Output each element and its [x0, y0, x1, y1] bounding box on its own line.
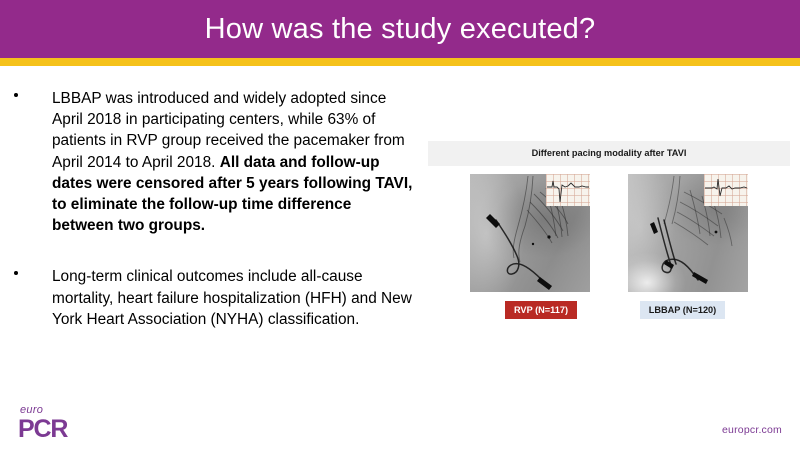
slide-canvas: How was the study executed? LBBAP was in…	[0, 0, 800, 450]
ecg-inset-lbbap	[704, 174, 748, 206]
ecg-trace-rvp	[546, 174, 590, 206]
list-item: LBBAP was introduced and widely adopted …	[0, 88, 424, 236]
list-item: Long-term clinical outcomes include all-…	[0, 266, 424, 330]
europcr-logo: euro PCR	[18, 404, 90, 444]
page-title: How was the study executed?	[0, 0, 800, 58]
bullet-dot-icon	[14, 93, 18, 97]
header-accent-stripe	[0, 58, 800, 66]
bullet-text-2: Long-term clinical outcomes include all-…	[52, 266, 416, 330]
group-label-rvp: RVP (N=117)	[505, 301, 577, 319]
bullet-dot-icon	[14, 271, 18, 275]
ecg-trace-lbbap	[704, 174, 748, 206]
bullet-list: LBBAP was introduced and widely adopted …	[0, 88, 424, 368]
footer-url: europcr.com	[722, 424, 782, 436]
fluoroscopy-image-lbbap	[628, 174, 748, 292]
bullet-text-1: LBBAP was introduced and widely adopted …	[52, 88, 416, 236]
bullet-spacer	[0, 236, 424, 266]
fluoroscopy-image-rvp	[470, 174, 590, 292]
group-label-lbbap: LBBAP (N=120)	[640, 301, 725, 319]
figure-caption: Different pacing modality after TAVI	[428, 141, 790, 166]
figure-panel: Different pacing modality after TAVI	[428, 141, 790, 333]
ecg-inset-rvp	[546, 174, 590, 206]
logo-pcr-text: PCR	[18, 416, 67, 442]
